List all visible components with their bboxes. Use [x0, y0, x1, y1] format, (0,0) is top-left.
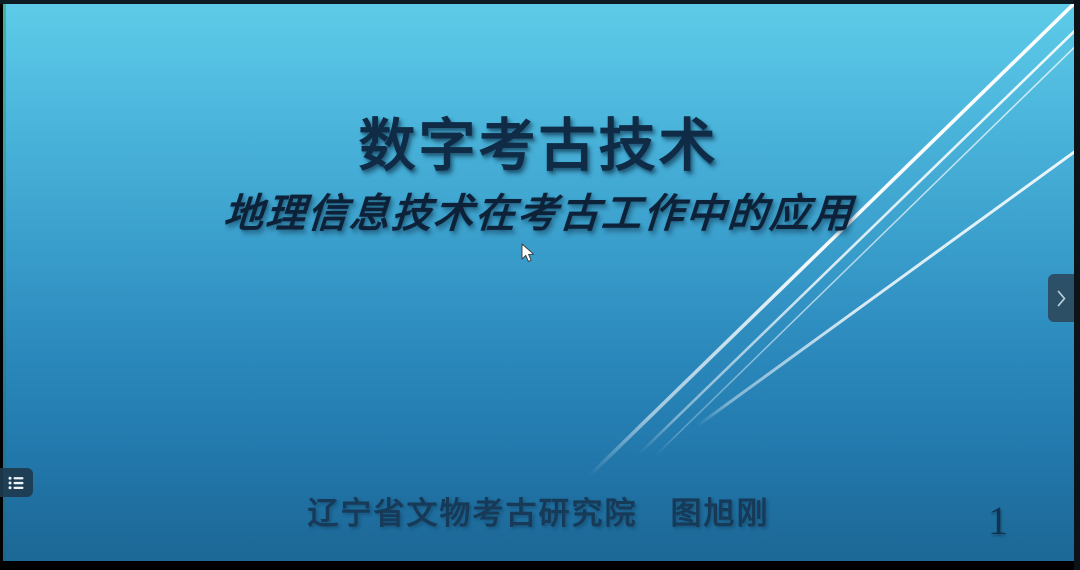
page-title: 数字考古技术 [3, 116, 1074, 176]
mouse-cursor-icon [521, 243, 537, 265]
slide-page-number: 1 [988, 497, 1008, 544]
chevron-right-icon [1056, 290, 1067, 307]
diagonal-streak-decoration [3, 4, 1074, 562]
slide-viewer: 数字考古技术 地理信息技术在考古工作中的应用 辽宁省文物考古研究院 图旭刚 1 [0, 0, 1080, 570]
list-icon [8, 476, 25, 490]
slide-list-button[interactable] [0, 468, 33, 497]
viewer-top-bar [0, 0, 1080, 4]
title-block: 数字考古技术 地理信息技术在考古工作中的应用 [3, 116, 1074, 236]
slide-byline: 辽宁省文物考古研究院 图旭刚 [3, 488, 1074, 533]
next-slide-button[interactable] [1048, 274, 1074, 322]
viewer-bottom-bar [0, 561, 1080, 570]
slide-subtitle: 地理信息技术在考古工作中的应用 [3, 192, 1074, 236]
presentation-slide[interactable]: 数字考古技术 地理信息技术在考古工作中的应用 辽宁省文物考古研究院 图旭刚 1 [3, 4, 1074, 562]
viewer-right-bar [1074, 0, 1080, 570]
